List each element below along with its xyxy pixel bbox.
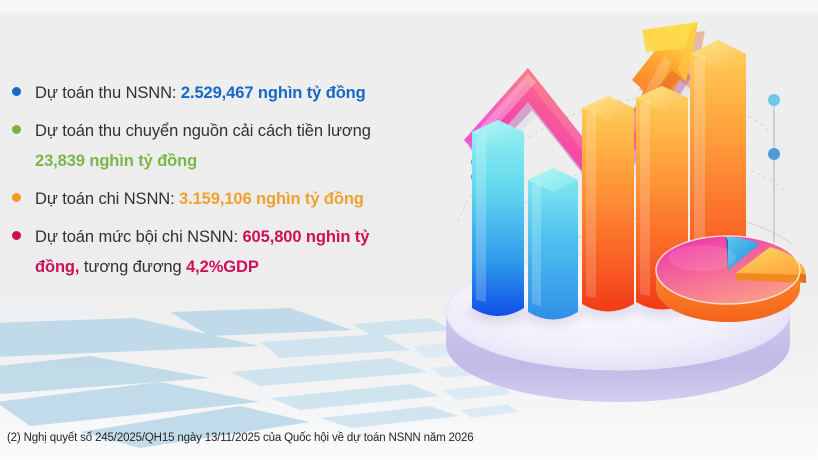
bullet-dot-icon-green	[12, 125, 21, 134]
bullet-value: 23,839 nghìn tỷ đồng	[35, 146, 371, 176]
accent-dot-right-lower	[768, 148, 780, 160]
bullet-value-continued: đồng,	[35, 258, 79, 276]
bullet-label: Dự toán chi NSNN:	[35, 190, 175, 208]
bar-orange-mid	[582, 96, 634, 312]
bullet-label: Dự toán thu chuyển nguồn cải cách tiền l…	[35, 122, 371, 140]
footnote-source: (2) Nghị quyết số 245/2025/QH15 ngày 13/…	[7, 432, 474, 444]
bullet-dot-icon-crimson	[12, 231, 21, 240]
bullet-item-du-toan-muc-boi-chi: Dự toán mức bội chi NSNN: 605,800 nghìn …	[12, 222, 452, 282]
bullet-value: 2.529,467 nghìn tỷ đồng	[181, 84, 366, 102]
bullet-dot-icon-blue	[12, 87, 21, 96]
bullet-item-du-toan-thu-nsnn: Dự toán thu NSNN: 2.529,467 nghìn tỷ đồn…	[12, 78, 452, 108]
bullet-item-du-toan-chi-nsnn: Dự toán chi NSNN: 3.159,106 nghìn tỷ đồn…	[12, 184, 452, 214]
bullet-label: Dự toán thu NSNN:	[35, 84, 176, 102]
bullet-label: Dự toán mức bội chi NSNN:	[35, 228, 238, 246]
bar-cyan-short	[528, 168, 578, 320]
bullet-text: Dự toán mức bội chi NSNN: 605,800 nghìn …	[35, 222, 369, 282]
bullet-second-line: đồng, tương đương 4,2%GDP	[35, 252, 369, 282]
illustration-3d-growth-chart	[440, 12, 818, 402]
bullet-text: Dự toán thu chuyển nguồn cải cách tiền l…	[35, 116, 371, 176]
3d-pie-chart	[656, 236, 806, 322]
bullet-dot-icon-orange	[12, 193, 21, 202]
bullet-value: 605,800 nghìn tỷ	[242, 228, 369, 246]
bullet-item-du-toan-thu-chuyen-nguon: Dự toán thu chuyển nguồn cải cách tiền l…	[12, 116, 452, 176]
bullet-value: 3.159,106 nghìn tỷ đồng	[179, 190, 364, 208]
bullet-list: Dự toán thu NSNN: 2.529,467 nghìn tỷ đồn…	[12, 78, 452, 290]
bullet-text: Dự toán chi NSNN: 3.159,106 nghìn tỷ đồn…	[35, 184, 364, 214]
accent-dot-right-upper	[768, 94, 780, 106]
bullet-mid-text: tương đương	[79, 258, 186, 276]
slide-root: Dự toán thu NSNN: 2.529,467 nghìn tỷ đồn…	[0, 0, 818, 460]
bullet-gdp-value: 4,2%GDP	[186, 258, 259, 276]
bar-cyan-tall	[472, 120, 524, 316]
bullet-text: Dự toán thu NSNN: 2.529,467 nghìn tỷ đồn…	[35, 78, 366, 108]
